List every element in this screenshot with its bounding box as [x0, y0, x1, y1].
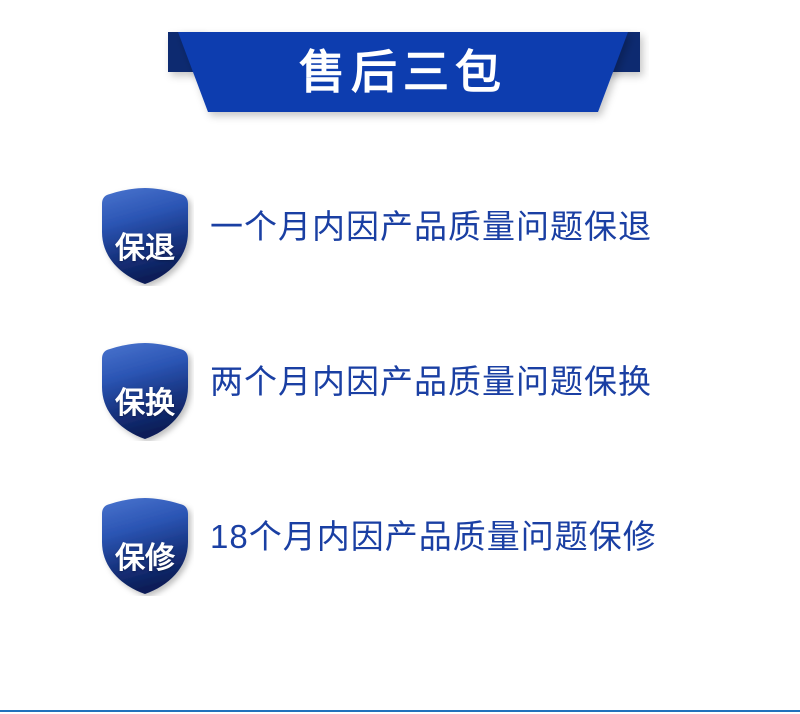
badge-label: 保换	[96, 357, 194, 457]
shield-badge: 保退	[96, 186, 194, 286]
list-item: 保退 一个月内因产品质量问题保退	[0, 170, 800, 325]
guarantee-description: 两个月内因产品质量问题保换	[210, 365, 652, 398]
guarantee-description: 18个月内因产品质量问题保修	[210, 520, 657, 553]
list-item: 保换 两个月内因产品质量问题保换	[0, 325, 800, 480]
page-title: 售后三包	[0, 32, 800, 112]
badge-label: 保退	[96, 202, 194, 302]
shield-badge: 保修	[96, 496, 194, 596]
bottom-divider	[0, 710, 800, 712]
badge-label: 保修	[96, 512, 194, 612]
banner: 售后三包	[0, 0, 800, 140]
guarantee-description: 一个月内因产品质量问题保退	[210, 210, 652, 243]
guarantee-list: 保退 一个月内因产品质量问题保退 保换	[0, 170, 800, 635]
list-item: 保修 18个月内因产品质量问题保修	[0, 480, 800, 635]
shield-badge: 保换	[96, 341, 194, 441]
